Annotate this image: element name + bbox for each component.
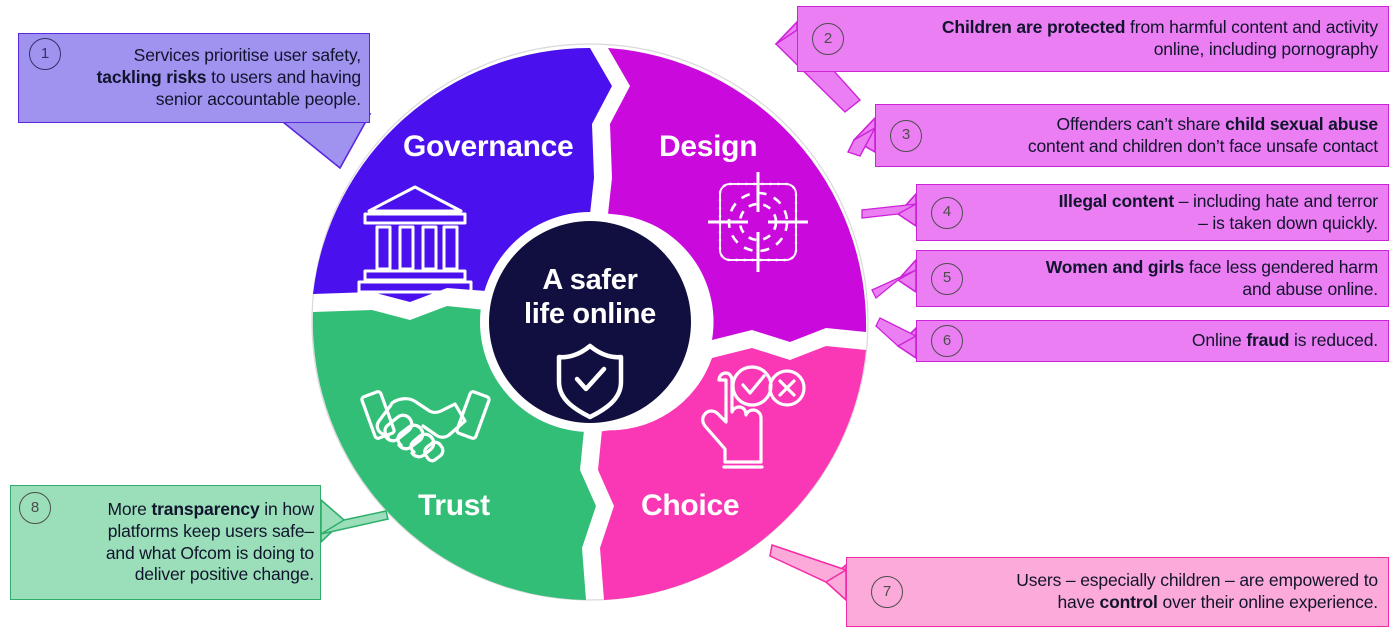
segment-label-governance: Governance xyxy=(403,130,573,164)
segment-label-design: Design xyxy=(659,130,757,164)
callout-1[interactable]: 1 Services prioritise user safety,tackli… xyxy=(18,33,370,123)
center-title: A safer life online xyxy=(497,263,683,331)
callout-number-6: 6 xyxy=(931,325,963,357)
center-title-line1: A safer xyxy=(497,263,683,297)
callout-6[interactable]: 6 Online fraud is reduced. xyxy=(916,320,1389,362)
callout-3[interactable]: 3 Offenders can’t share child sexual abu… xyxy=(875,104,1389,167)
callout-4[interactable]: 4 Illegal content – including hate and t… xyxy=(916,184,1389,241)
segment-label-choice: Choice xyxy=(641,489,739,523)
callout-number-1: 1 xyxy=(29,38,61,70)
infographic-stage: Governance Design Trust Choice A safer l… xyxy=(0,0,1397,644)
segment-label-trust: Trust xyxy=(418,489,490,523)
callout-number-8: 8 xyxy=(19,492,51,524)
callout-number-2: 2 xyxy=(812,23,844,55)
callout-7[interactable]: 7 Users – especially children – are empo… xyxy=(846,557,1389,627)
center-title-line2: life online xyxy=(497,297,683,331)
callout-text-8: More transparency in howplatforms keep u… xyxy=(53,499,320,586)
callout-text-3: Offenders can’t share child sexual abuse… xyxy=(924,114,1388,157)
callout-text-1: Services prioritise user safety,tackling… xyxy=(63,45,369,110)
connector-8 xyxy=(321,500,344,542)
callout-number-7: 7 xyxy=(871,576,903,608)
callout-5[interactable]: 5 Women and girls face less gendered har… xyxy=(916,250,1389,307)
callout-text-2: Children are protected from harmful cont… xyxy=(846,17,1388,60)
callout-number-5: 5 xyxy=(931,263,963,295)
connector-7-line xyxy=(770,545,846,582)
connector-5 xyxy=(898,260,916,292)
callout-number-4: 4 xyxy=(931,197,963,229)
callout-text-7: Users – especially children – are empowe… xyxy=(905,570,1388,613)
callout-text-5: Women and girls face less gendered harma… xyxy=(965,257,1388,300)
callout-text-4: Illegal content – including hate and ter… xyxy=(965,191,1388,234)
callout-text-6: Online fraud is reduced. xyxy=(965,330,1388,352)
callout-8[interactable]: 8 More transparency in howplatforms keep… xyxy=(10,485,321,600)
callout-2[interactable]: 2 Children are protected from harmful co… xyxy=(797,6,1389,72)
callout-number-3: 3 xyxy=(890,120,922,152)
